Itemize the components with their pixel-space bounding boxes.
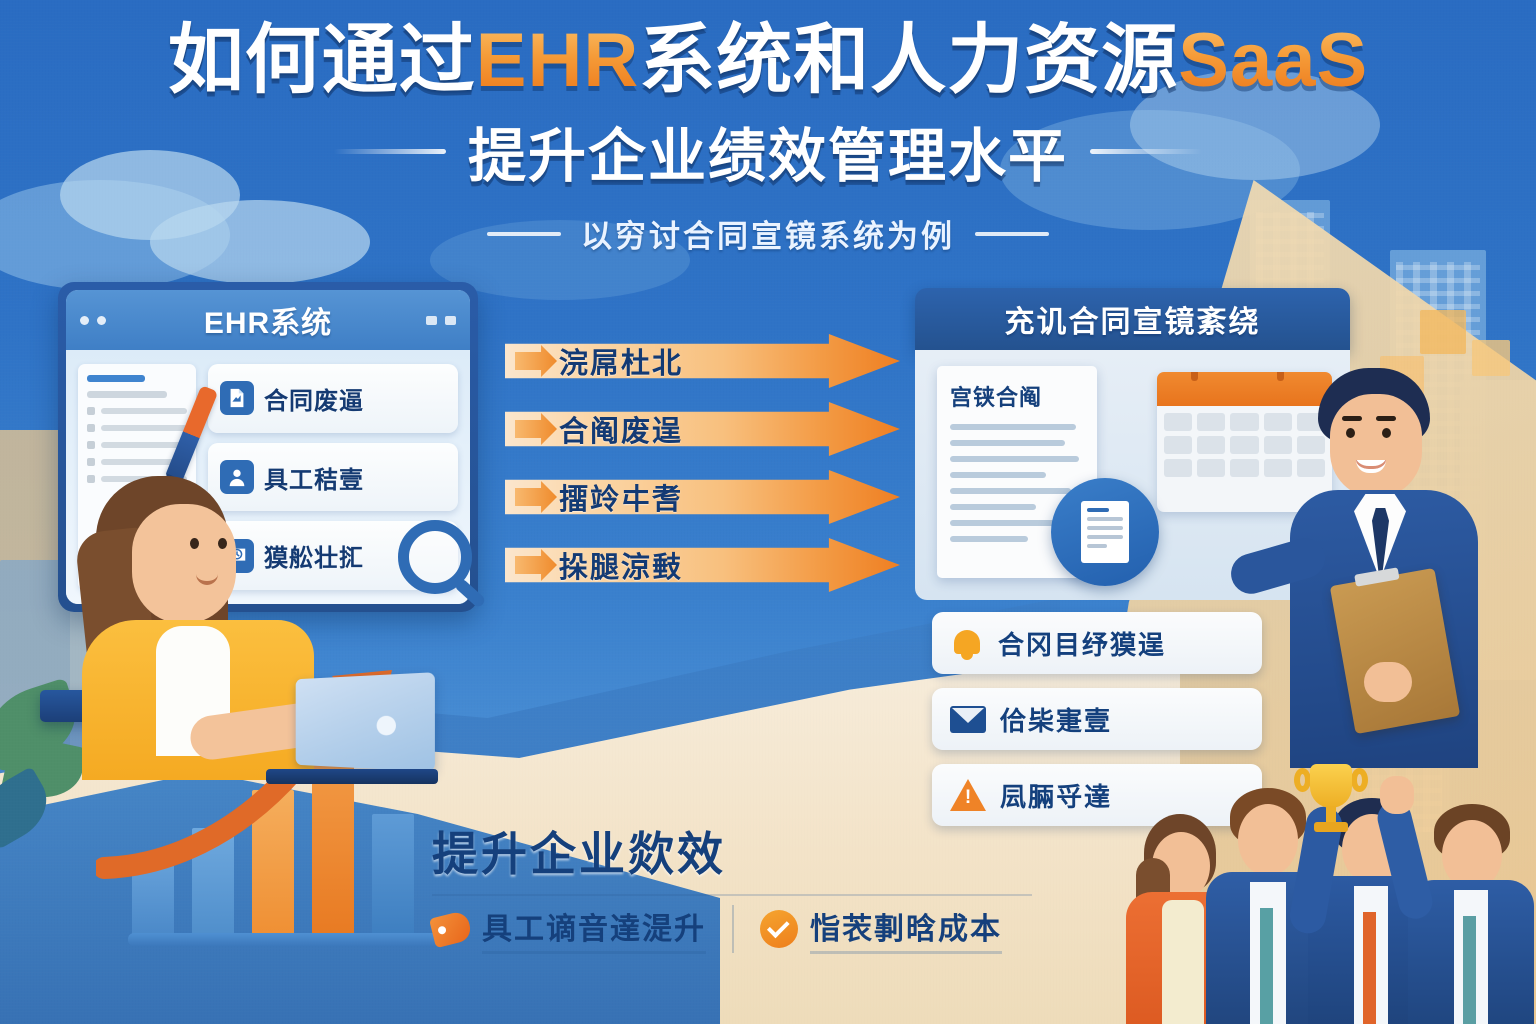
title-tagline-row: 以穷讨合同宣镜系统为例	[0, 211, 1536, 256]
building-shape	[1420, 310, 1466, 354]
document-circle-icon	[1051, 478, 1159, 586]
bottom-title: 提升企业欻效	[432, 818, 1032, 884]
trophy-handle	[1351, 768, 1368, 792]
team-celebration-illustration	[1118, 752, 1536, 1024]
contract-line	[950, 440, 1065, 446]
doc-row	[87, 424, 187, 432]
face-shape	[1330, 394, 1422, 498]
contract-line	[950, 504, 1036, 510]
window-dots-left	[80, 316, 106, 325]
contract-panel-header: 充讥合同宣镜紊绕	[915, 288, 1350, 350]
title-accent-ehr: EHR	[476, 18, 639, 103]
title-rule-right	[1090, 149, 1202, 154]
bottom-divider	[432, 894, 1032, 896]
eye-shape	[1382, 428, 1391, 438]
title-line-2: 提升企业绩效管理水平	[468, 109, 1068, 193]
notification-card[interactable]: 佮枈寁壹	[932, 688, 1262, 750]
process-arrow[interactable]: 挆腿涼㩾	[505, 538, 900, 592]
title-tagline: 以穷讨合同宣镜系统为例	[581, 211, 955, 256]
trophy-icon	[1294, 756, 1368, 842]
title-accent-saas: SaaS	[1178, 18, 1368, 103]
notification-label: 佮枈寁壹	[1000, 701, 1112, 738]
bottom-item[interactable]: 恉䒾剚晗成本	[760, 904, 1002, 954]
check-circle-icon	[760, 910, 798, 948]
eye-shape	[190, 538, 199, 549]
contract-line	[950, 488, 1071, 494]
process-arrow[interactable]: 㩅竛㐄㖈	[505, 470, 900, 524]
contract-panel-title: 充讥合同宣镜紊绕	[1005, 297, 1261, 341]
ehr-feature-card[interactable]: 合同废逼	[208, 364, 458, 433]
trophy-base	[1314, 822, 1348, 832]
warning-triangle-icon	[950, 779, 986, 811]
process-arrow-list: 浣屌杜北 合阄废逞 㩅竛㐄㖈 挆腿涼㩾	[505, 334, 900, 592]
title-middle: 系统和人力资源	[639, 18, 1178, 103]
infographic-poster: 如何通过EHR系统和人力资源SaaS 提升企业绩效管理水平 以穷讨合同宣镜系统为…	[0, 0, 1536, 1024]
woman-with-laptop-illustration	[78, 470, 408, 770]
process-arrow-label: 浣屌杜北	[559, 340, 683, 382]
contract-line	[950, 424, 1076, 430]
chart-baseline	[128, 933, 446, 946]
ehr-feature-label: 合同废逼	[264, 381, 364, 416]
bottom-summary-block: 提升企业欻效 具工谪音達湜升 恉䒾剚晗成本	[432, 818, 1032, 954]
contract-line	[950, 520, 1063, 526]
contract-line	[950, 456, 1079, 462]
contract-document-title: 宫铗合阄	[950, 380, 1084, 412]
eyebrow-shape	[1342, 416, 1362, 421]
bottom-item-label: 具工谪音達湜升	[482, 904, 706, 954]
ehr-window-title: EHR系统	[204, 298, 332, 342]
tagline-rule-left	[487, 232, 561, 236]
doc-line-highlight	[87, 375, 145, 382]
contract-line	[950, 536, 1028, 542]
document-glyph	[1081, 501, 1129, 563]
window-titlebar: EHR系统	[66, 290, 470, 350]
doc-row	[87, 441, 187, 449]
eye-shape	[1346, 428, 1355, 438]
tie-shape	[1463, 916, 1476, 1024]
laptop-lid	[296, 672, 435, 772]
contract-line	[950, 472, 1046, 478]
face-shape	[1238, 804, 1298, 876]
title-rule-left	[334, 149, 446, 154]
notification-card[interactable]: 合冈目纾獏逞	[932, 612, 1262, 674]
doc-line	[87, 391, 167, 398]
businessman-illustration	[1268, 368, 1518, 768]
tie-shape	[1260, 908, 1273, 1024]
tagline-rule-right	[975, 232, 1049, 236]
notification-label: 凨脼寽達	[1000, 777, 1112, 814]
process-arrow[interactable]: 合阄废逞	[505, 402, 900, 456]
hand-shape	[1364, 662, 1412, 702]
doc-row	[87, 407, 187, 415]
process-arrow[interactable]: 浣屌杜北	[505, 334, 900, 388]
magnifier-icon	[398, 520, 472, 594]
laptop-base	[266, 769, 438, 784]
title-line-1: 如何通过EHR系统和人力资源SaaS	[0, 18, 1536, 103]
envelope-icon	[950, 706, 986, 733]
bottom-item-list: 具工谪音達湜升 恉䒾剚晗成本	[432, 904, 1032, 954]
trophy-cup	[1310, 764, 1352, 808]
bottom-item-separator	[732, 905, 734, 953]
process-arrow-label: 挆腿涼㩾	[559, 544, 683, 586]
shirt-shape	[1162, 900, 1204, 1024]
person-figure	[1406, 798, 1534, 1024]
hand-shape	[1380, 776, 1414, 814]
title-line-2-row: 提升企业绩效管理水平	[0, 109, 1536, 193]
title-prefix: 如何通过	[168, 18, 476, 103]
process-arrow-label: 合阄废逞	[559, 408, 683, 450]
tag-icon	[429, 910, 473, 948]
poster-title-block: 如何通过EHR系统和人力资源SaaS 提升企业绩效管理水平 以穷讨合同宣镜系统为…	[0, 18, 1536, 256]
eyebrow-shape	[1376, 416, 1396, 421]
laptop-illustration	[266, 676, 432, 780]
bottom-item[interactable]: 具工谪音達湜升	[432, 904, 706, 954]
laptop-logo	[377, 716, 396, 736]
window-dots-right	[426, 316, 456, 325]
document-icon	[220, 381, 254, 415]
trophy-handle	[1294, 768, 1311, 792]
bottom-item-label: 恉䒾剚晗成本	[810, 904, 1002, 954]
eye-shape	[218, 538, 227, 549]
face-shape	[132, 504, 236, 624]
notification-label: 合冈目纾獏逞	[998, 625, 1166, 662]
bell-icon	[950, 626, 984, 660]
process-arrow-label: 㩅竛㐄㖈	[559, 476, 683, 518]
tie-shape	[1363, 912, 1376, 1024]
